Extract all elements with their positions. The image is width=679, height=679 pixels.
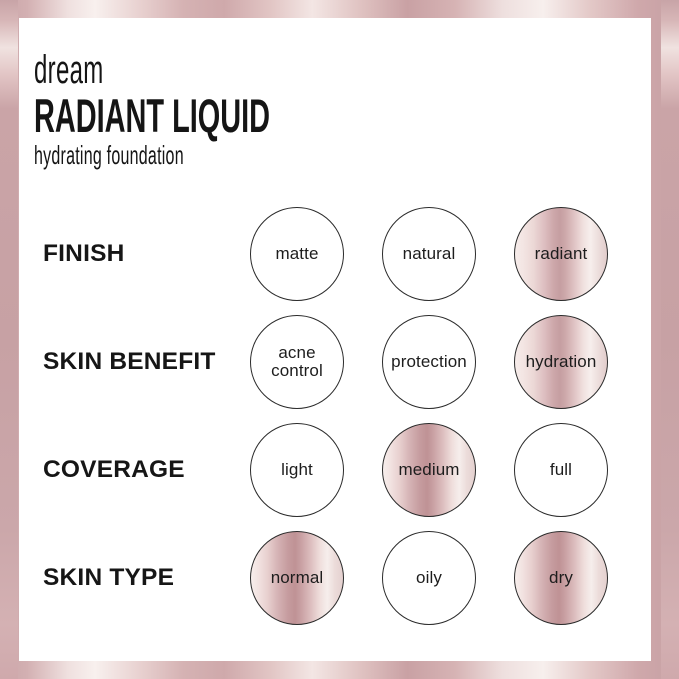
product-info-graphic: dream RADIANT LIQUID hydrating foundatio… bbox=[0, 0, 679, 679]
attribute-option-group: acne controlprotectionhydration bbox=[250, 308, 608, 416]
option-bubble-label: dry bbox=[549, 569, 573, 587]
attribute-row-label: COVERAGE bbox=[43, 416, 185, 524]
option-bubble-label: full bbox=[550, 461, 572, 479]
option-bubble-medium[interactable]: medium bbox=[382, 423, 476, 517]
attribute-row-label: SKIN BENEFIT bbox=[43, 308, 216, 416]
attribute-row-label: FINISH bbox=[43, 200, 125, 308]
option-bubble-acne-control[interactable]: acne control bbox=[250, 315, 344, 409]
option-bubble-label: light bbox=[281, 461, 313, 479]
option-bubble-normal[interactable]: normal bbox=[250, 531, 344, 625]
option-bubble-label: normal bbox=[271, 569, 324, 587]
option-bubble-full[interactable]: full bbox=[514, 423, 608, 517]
option-bubble-label: radiant bbox=[535, 245, 588, 263]
option-bubble-label: natural bbox=[403, 245, 456, 263]
attribute-row: SKIN TYPEnormaloilydry bbox=[19, 524, 651, 632]
attribute-grid: FINISHmattenaturalradiantSKIN BENEFITacn… bbox=[19, 200, 651, 632]
white-content-card: dream RADIANT LIQUID hydrating foundatio… bbox=[19, 18, 651, 661]
attribute-option-group: normaloilydry bbox=[250, 524, 608, 632]
option-bubble-protection[interactable]: protection bbox=[382, 315, 476, 409]
brand-name-dream: dream bbox=[34, 50, 286, 90]
option-bubble-label: acne control bbox=[271, 344, 323, 381]
option-bubble-label: protection bbox=[391, 353, 467, 371]
brand-wordmark: dream RADIANT LIQUID hydrating foundatio… bbox=[34, 50, 454, 168]
attribute-option-group: mattenaturalradiant bbox=[250, 200, 608, 308]
option-bubble-label: hydration bbox=[526, 353, 597, 371]
metallic-frame-left-rail bbox=[0, 0, 18, 679]
option-bubble-light[interactable]: light bbox=[250, 423, 344, 517]
attribute-row-label: SKIN TYPE bbox=[43, 524, 174, 632]
option-bubble-matte[interactable]: matte bbox=[250, 207, 344, 301]
option-bubble-label: oily bbox=[416, 569, 442, 587]
product-descriptor: hydrating foundation bbox=[34, 142, 292, 168]
metallic-frame-right-rail bbox=[661, 0, 679, 679]
attribute-row: SKIN BENEFITacne controlprotectionhydrat… bbox=[19, 308, 651, 416]
attribute-option-group: lightmediumfull bbox=[250, 416, 608, 524]
option-bubble-oily[interactable]: oily bbox=[382, 531, 476, 625]
option-bubble-label: medium bbox=[398, 461, 459, 479]
option-bubble-hydration[interactable]: hydration bbox=[514, 315, 608, 409]
attribute-row: FINISHmattenaturalradiant bbox=[19, 200, 651, 308]
option-bubble-dry[interactable]: dry bbox=[514, 531, 608, 625]
option-bubble-radiant[interactable]: radiant bbox=[514, 207, 608, 301]
product-title: RADIANT LIQUID bbox=[34, 92, 292, 139]
option-bubble-label: matte bbox=[275, 245, 318, 263]
option-bubble-natural[interactable]: natural bbox=[382, 207, 476, 301]
attribute-row: COVERAGElightmediumfull bbox=[19, 416, 651, 524]
